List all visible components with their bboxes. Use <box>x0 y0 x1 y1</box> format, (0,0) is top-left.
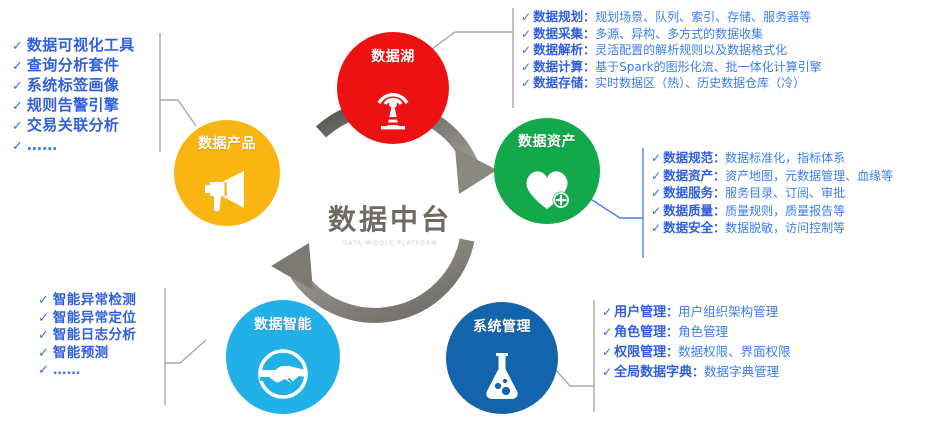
check-icon: ✓ <box>602 366 612 378</box>
feature-value: 数据标准化，指标体系 <box>725 152 845 164</box>
feature-separator: ： <box>583 44 595 56</box>
feature-value: 数据字典管理 <box>704 366 779 379</box>
feature-separator: ： <box>713 152 725 164</box>
feature-key: 数据安全 <box>663 222 713 235</box>
check-icon: ✓ <box>12 80 23 93</box>
check-icon: ✓ <box>602 346 612 358</box>
check-icon: ✓ <box>38 312 49 325</box>
node-data-intelligence-label: 数据智能 <box>254 314 312 334</box>
feature-separator: ： <box>666 306 678 318</box>
feature-separator: ： <box>713 170 725 182</box>
node-data-intelligence[interactable]: 数据智能 <box>226 300 340 414</box>
feature-value: 质量规则，质量报告等 <box>725 205 845 217</box>
feature-separator: ： <box>666 326 678 338</box>
feature-key: 规则告警引擎 <box>27 98 119 113</box>
handshake-icon <box>255 334 311 414</box>
feature-value: 基于Spark的图形化流、批一体化计算引擎 <box>595 61 821 73</box>
data-lake-features-block: ✓数据规划：规划场景、队列、索引、存储、服务器等✓数据采集：多源、异构、多方式的… <box>521 11 822 94</box>
data-intelligence-features-block: ✓智能异常检测✓智能异常定位✓智能日志分析✓智能预测✓…… <box>38 294 136 382</box>
feature-row: ✓数据质量：质量规则，质量报告等 <box>651 205 893 218</box>
feature-value: 灵活配置的解析规则以及数据格式化 <box>595 44 787 56</box>
feature-separator: ： <box>583 28 595 40</box>
node-data-product[interactable]: 数据产品 <box>174 120 280 226</box>
feature-value: 服务目录、订阅、审批 <box>725 187 845 199</box>
feature-value: 资产地图，元数据管理、血缘等 <box>725 170 893 182</box>
feature-row: ✓…… <box>38 364 136 378</box>
feature-key: 数据采集 <box>533 28 583 41</box>
check-icon: ✓ <box>38 329 49 342</box>
feature-row: ✓数据规范：数据标准化，指标体系 <box>651 152 893 165</box>
feature-row: ✓数据存储：实时数据区（热）、历史数据仓库（冷） <box>521 77 822 90</box>
check-icon: ✓ <box>38 364 49 377</box>
feature-row: ✓数据采集：多源、异构、多方式的数据收集 <box>521 28 822 41</box>
feature-value: 数据脱敏，访问控制等 <box>725 222 845 234</box>
feature-separator: ： <box>713 187 725 199</box>
feature-key: …… <box>53 364 81 378</box>
check-icon: ✓ <box>12 40 23 53</box>
feature-key: 全局数据字典 <box>614 366 692 379</box>
check-icon: ✓ <box>38 347 49 360</box>
feature-row: ✓数据可视化工具 <box>12 38 135 53</box>
feature-row: ✓查询分析套件 <box>12 58 135 73</box>
feature-value: 角色管理 <box>678 326 728 339</box>
feature-key: 数据质量 <box>663 205 713 218</box>
feature-key: 角色管理 <box>614 326 666 339</box>
node-data-product-label: 数据产品 <box>198 133 256 153</box>
feature-value: 数据权限、界面权限 <box>678 346 791 359</box>
check-icon: ✓ <box>521 28 531 40</box>
check-icon: ✓ <box>651 187 661 199</box>
feature-key: 交易关联分析 <box>27 118 119 133</box>
feature-key: 查询分析套件 <box>27 58 119 73</box>
feature-separator: ： <box>583 11 595 23</box>
elbow-middle-right <box>586 196 643 218</box>
feature-row: ✓交易关联分析 <box>12 118 135 133</box>
feature-key: 智能异常定位 <box>53 312 136 326</box>
feature-key: 系统标签画像 <box>27 78 119 93</box>
check-icon: ✓ <box>12 140 23 153</box>
feature-key: 智能预测 <box>53 347 109 361</box>
feature-separator: ： <box>713 205 725 217</box>
feature-row: ✓智能预测 <box>38 347 136 361</box>
check-icon: ✓ <box>602 306 612 318</box>
feature-key: 权限管理 <box>614 346 666 359</box>
node-system-management[interactable]: 系统管理 <box>446 302 558 414</box>
feature-row: ✓智能日志分析 <box>38 329 136 343</box>
feature-separator: ： <box>583 77 595 89</box>
check-icon: ✓ <box>651 170 661 182</box>
check-icon: ✓ <box>521 11 531 23</box>
check-icon: ✓ <box>38 294 49 307</box>
flask-icon <box>479 336 525 414</box>
feature-key: …… <box>27 138 58 153</box>
feature-separator: ： <box>583 61 595 73</box>
check-icon: ✓ <box>521 77 531 89</box>
feature-row: ✓智能异常定位 <box>38 312 136 326</box>
check-icon: ✓ <box>12 100 23 113</box>
node-data-asset[interactable]: 数据资产 <box>494 118 600 224</box>
feature-key: 数据服务 <box>663 187 713 200</box>
feature-key: 智能日志分析 <box>53 329 136 343</box>
feature-row: ✓数据计算：基于Spark的图形化流、批一体化计算引擎 <box>521 61 822 74</box>
feature-key: 数据规范 <box>663 152 713 165</box>
system-management-features-block: ✓用户管理：用户组织架构管理✓角色管理：角色管理✓权限管理：数据权限、界面权限✓… <box>602 306 791 386</box>
feature-row: ✓数据安全：数据脱敏，访问控制等 <box>651 222 893 235</box>
feature-row: ✓数据解析：灵活配置的解析规则以及数据格式化 <box>521 44 822 57</box>
feature-row: ✓角色管理：角色管理 <box>602 326 791 339</box>
feature-key: 智能异常检测 <box>53 294 136 308</box>
check-icon: ✓ <box>651 222 661 234</box>
feature-key: 数据资产 <box>663 170 713 183</box>
center-subtitle: DATA MIDDLE PLATFORM <box>300 240 480 247</box>
feature-value: 规划场景、队列、索引、存储、服务器等 <box>595 11 811 23</box>
diagram-canvas: 数据中台 DATA MIDDLE PLATFORM 数据湖 数据资产 <box>0 0 931 428</box>
megaphone-icon <box>200 153 254 226</box>
feature-key: 数据可视化工具 <box>27 38 135 53</box>
feature-row: ✓权限管理：数据权限、界面权限 <box>602 346 791 359</box>
check-icon: ✓ <box>12 60 23 73</box>
check-icon: ✓ <box>12 120 23 133</box>
center-label: 数据中台 DATA MIDDLE PLATFORM <box>300 206 480 247</box>
feature-value: 用户组织架构管理 <box>678 306 778 319</box>
feature-separator: ： <box>666 346 678 358</box>
feature-row: ✓智能异常检测 <box>38 294 136 308</box>
feature-key: 数据存储 <box>533 77 583 90</box>
feature-row: ✓系统标签画像 <box>12 78 135 93</box>
node-data-asset-label: 数据资产 <box>518 131 576 151</box>
node-system-management-label: 系统管理 <box>473 316 531 336</box>
page-title: 数据中台 <box>300 206 480 234</box>
feature-row: ✓用户管理：用户组织架构管理 <box>602 306 791 319</box>
data-product-features-block: ✓数据可视化工具✓查询分析套件✓系统标签画像✓规则告警引擎✓交易关联分析✓…… <box>12 38 135 158</box>
check-icon: ✓ <box>651 205 661 217</box>
data-asset-features-block: ✓数据规范：数据标准化，指标体系✓数据资产：资产地图，元数据管理、血缘等✓数据服… <box>651 152 893 240</box>
feature-key: 数据解析 <box>533 44 583 57</box>
check-icon: ✓ <box>602 326 612 338</box>
feature-value: 多源、异构、多方式的数据收集 <box>595 28 763 40</box>
feature-row: ✓全局数据字典：数据字典管理 <box>602 366 791 379</box>
check-icon: ✓ <box>521 61 531 73</box>
elbow-top-left <box>160 100 196 126</box>
feature-value: 实时数据区（热）、历史数据仓库（冷） <box>595 77 805 89</box>
broadcast-tower-icon <box>369 66 417 144</box>
feature-row: ✓规则告警引擎 <box>12 98 135 113</box>
elbow-bottom-left <box>165 340 206 363</box>
feature-separator: ： <box>692 366 704 378</box>
node-data-lake[interactable]: 数据湖 <box>337 32 449 144</box>
feature-key: 数据规划 <box>533 11 583 24</box>
feature-row: ✓数据服务：服务目录、订阅、审批 <box>651 187 893 200</box>
node-data-lake-label: 数据湖 <box>371 46 415 66</box>
feature-key: 数据计算 <box>533 61 583 74</box>
feature-row: ✓数据规划：规划场景、队列、索引、存储、服务器等 <box>521 11 822 24</box>
feature-row: ✓数据资产：资产地图，元数据管理、血缘等 <box>651 170 893 183</box>
check-icon: ✓ <box>651 152 661 164</box>
heart-plus-icon <box>519 151 575 224</box>
feature-row: ✓…… <box>12 138 135 153</box>
feature-key: 用户管理 <box>614 306 666 319</box>
feature-separator: ： <box>713 222 725 234</box>
check-icon: ✓ <box>521 44 531 56</box>
